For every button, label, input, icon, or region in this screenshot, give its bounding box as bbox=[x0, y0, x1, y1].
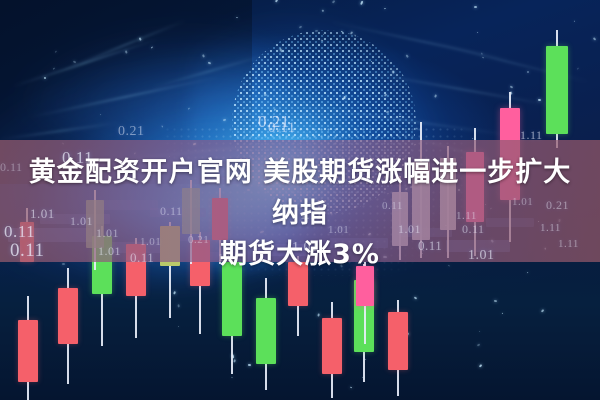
candle-10 bbox=[322, 302, 342, 398]
candle-2 bbox=[58, 268, 78, 384]
candle-body bbox=[388, 312, 408, 370]
candle-12 bbox=[388, 300, 408, 396]
number-label: 0.11 bbox=[268, 120, 296, 137]
particle-speck bbox=[526, 71, 528, 73]
number-label: 0.21 bbox=[118, 124, 145, 140]
candle-body bbox=[546, 46, 568, 134]
candle-8 bbox=[256, 278, 276, 390]
candle-body bbox=[322, 318, 342, 374]
candle-body bbox=[58, 288, 78, 344]
particle-speck bbox=[494, 299, 497, 301]
candle-21 bbox=[546, 30, 568, 148]
headline-line-2: 期货大涨3% bbox=[0, 234, 600, 275]
particle-speck bbox=[343, 97, 345, 100]
number-label: 1.11 bbox=[520, 128, 543, 143]
particle-speck bbox=[125, 50, 127, 53]
candle-body bbox=[18, 320, 38, 382]
candle-1 bbox=[18, 296, 38, 400]
news-banner-image: 0.110.210.110.211.111.011.010.110.111.01… bbox=[0, 0, 600, 400]
particle-speck bbox=[386, 111, 389, 113]
headline-line-1: 黄金配资开户官网 美股期货涨幅进一步扩大 纳指 bbox=[0, 152, 600, 234]
particle-speck bbox=[502, 312, 503, 313]
particle-speck bbox=[392, 70, 394, 73]
headline: 黄金配资开户官网 美股期货涨幅进一步扩大 纳指 期货大涨3% bbox=[0, 152, 600, 275]
candle-body bbox=[256, 298, 276, 364]
particle-speck bbox=[248, 364, 251, 366]
particle-speck bbox=[574, 20, 575, 21]
